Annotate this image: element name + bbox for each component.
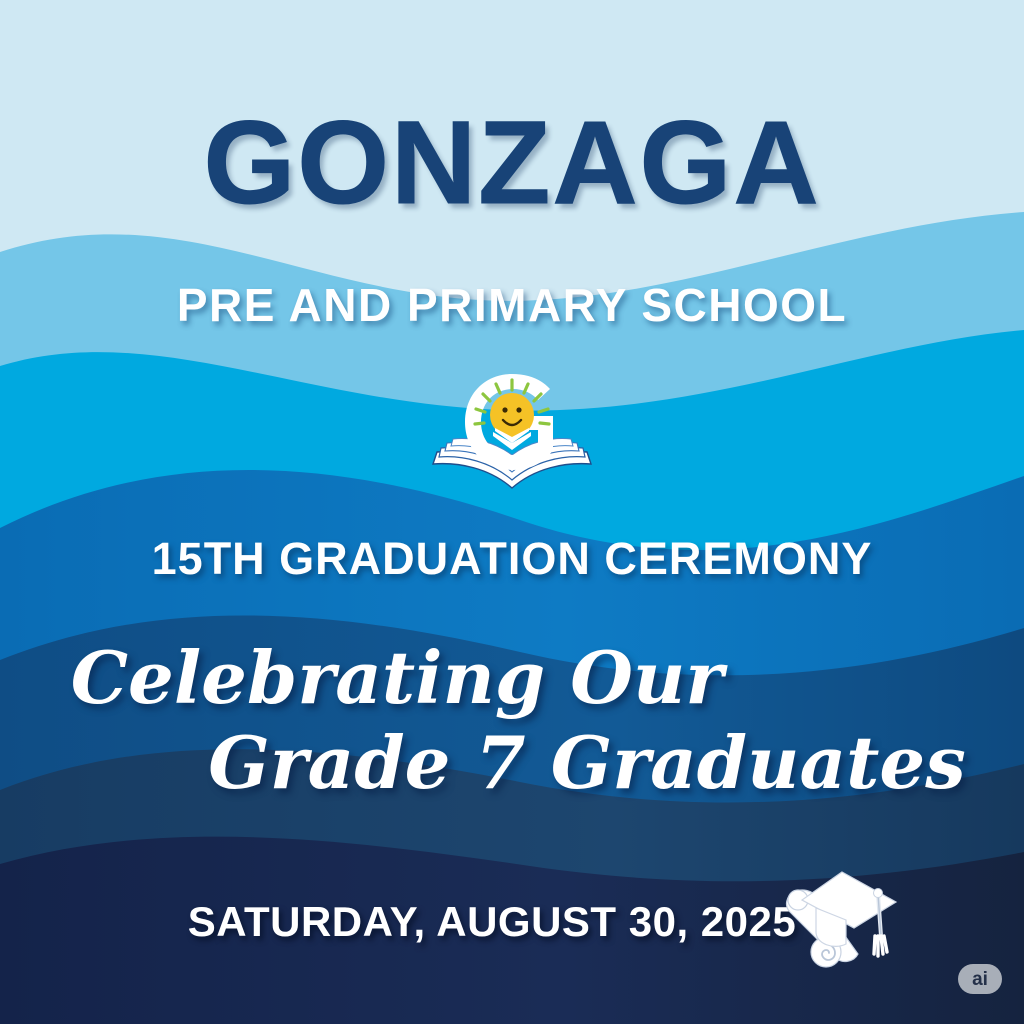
- page-title: GONZAGA: [0, 104, 1024, 222]
- ai-badge: ai: [958, 964, 1002, 994]
- graduation-poster: GONZAGA PRE AND PRIMARY SCHOOL: [0, 0, 1024, 1024]
- celebration-script-container: Celebrating Our Grade 7 Graduates: [0, 636, 1024, 806]
- school-logo-container: [0, 360, 1024, 515]
- ceremony-title: 15TH GRADUATION CEREMONY: [0, 533, 1024, 585]
- event-date: SATURDAY, AUGUST 30, 2025: [188, 898, 836, 946]
- ai-badge-label: ai: [972, 970, 988, 989]
- gonzaga-g-sun-book-logo: [407, 360, 617, 510]
- school-title-container: GONZAGA: [0, 104, 1024, 222]
- ceremony-title-container: 15TH GRADUATION CEREMONY: [0, 533, 1024, 585]
- school-subtitle: PRE AND PRIMARY SCHOOL: [0, 278, 1024, 332]
- school-subtitle-container: PRE AND PRIMARY SCHOOL: [0, 278, 1024, 332]
- celebration-line-1: Celebrating Our: [0, 636, 1024, 721]
- celebration-line-2: Grade 7 Graduates: [0, 721, 1024, 806]
- graduation-cap-diploma-icon: [778, 866, 898, 976]
